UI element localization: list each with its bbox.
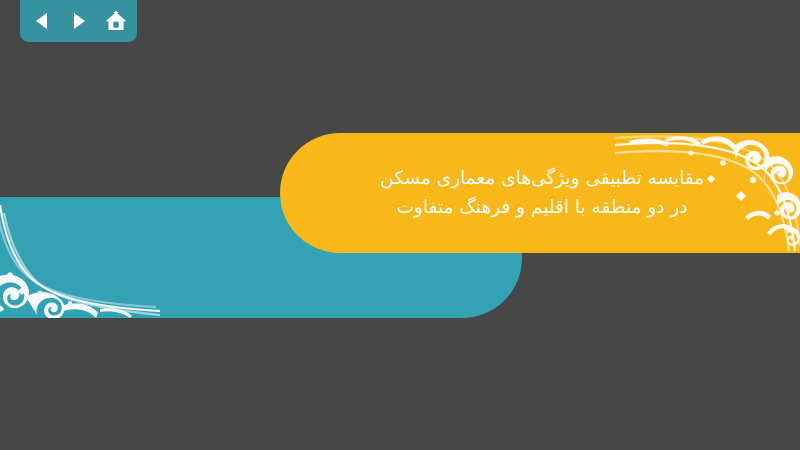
navigation-bar [20, 0, 137, 42]
title-line-2: در دو منطقه با اقلیم و فرهنگ متفاوت [397, 193, 688, 222]
forward-button[interactable] [66, 8, 92, 34]
back-button[interactable] [29, 8, 55, 34]
home-icon [104, 10, 128, 32]
back-icon [33, 11, 51, 31]
home-button[interactable] [103, 8, 129, 34]
title-banner: مقایسه تطبیقی ویژگی‌های معماری مسکن در د… [280, 133, 800, 253]
slide-title: مقایسه تطبیقی ویژگی‌های معماری مسکن در د… [280, 133, 800, 253]
forward-icon [70, 11, 88, 31]
slide-canvas: مقایسه تطبیقی ویژگی‌های معماری مسکن در د… [0, 0, 800, 450]
title-line-1: مقایسه تطبیقی ویژگی‌های معماری مسکن [380, 164, 704, 193]
arabesque-corner-ornament [0, 197, 160, 318]
